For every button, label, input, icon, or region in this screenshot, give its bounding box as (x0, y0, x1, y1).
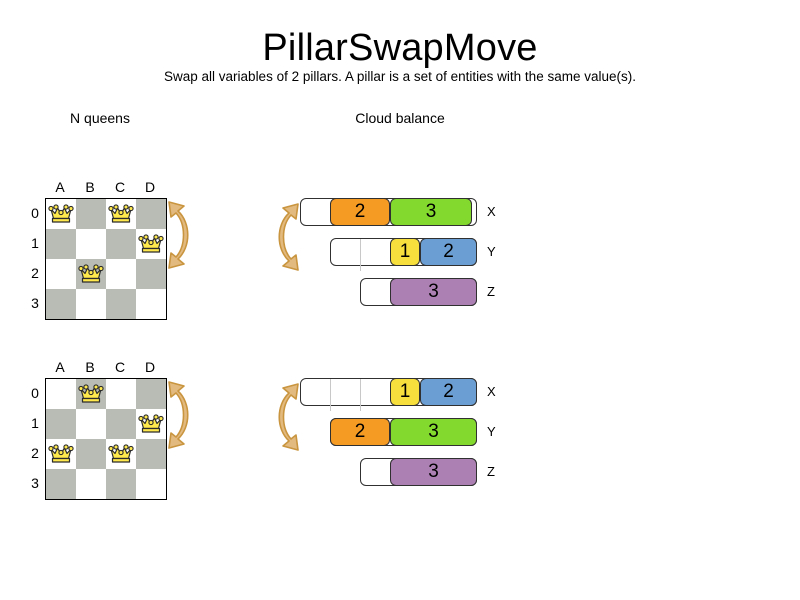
board-column-label-c: C (105, 358, 135, 376)
nqueens-board-after: ABCD 0123 (28, 358, 183, 500)
section-heading-cloud: Cloud balance (330, 110, 470, 126)
board-cell-D0[interactable] (136, 379, 166, 409)
board-cell-C2[interactable] (106, 259, 136, 289)
queen-crown-icon (48, 443, 74, 465)
computer-label-y: Y (487, 238, 511, 266)
cloud-row-z: 3Z (295, 275, 505, 315)
board-column-labels: ABCD (45, 178, 165, 198)
board-cell-B1[interactable] (76, 409, 106, 439)
board-column-label-b: B (75, 358, 105, 376)
board-cell-B1[interactable] (76, 229, 106, 259)
process-block[interactable]: 1 (390, 378, 420, 406)
board-column-labels: ABCD (45, 358, 165, 378)
board-row-label-2: 2 (28, 438, 42, 468)
queen-crown-icon (108, 443, 134, 465)
board-cell-C1[interactable] (106, 229, 136, 259)
board-row-label-2: 2 (28, 258, 42, 288)
section-heading-nqueens: N queens (40, 110, 160, 126)
queen-piece[interactable] (78, 383, 104, 405)
board-cell-A1[interactable] (46, 409, 76, 439)
board-cell-A3[interactable] (46, 289, 76, 319)
process-block[interactable]: 2 (420, 378, 477, 406)
capacity-divider (330, 379, 331, 411)
board-cell-D3[interactable] (136, 469, 166, 499)
board-cell-A2[interactable] (46, 259, 76, 289)
queen-piece[interactable] (48, 443, 74, 465)
board-column-label-a: A (45, 178, 75, 196)
cloud-balance-after: 12X23Y3Z (295, 375, 505, 495)
computer-label-z: Z (487, 458, 511, 486)
board-cell-D3[interactable] (136, 289, 166, 319)
cloud-row-x: 12X (295, 375, 505, 415)
page-title: PillarSwapMove (0, 26, 800, 70)
computer-label-y: Y (487, 418, 511, 446)
board-cell-B2[interactable] (76, 439, 106, 469)
double-headed-curved-swap-arrow-icon (165, 376, 199, 454)
board-column-label-c: C (105, 178, 135, 196)
process-block[interactable]: 3 (390, 198, 472, 226)
queen-piece[interactable] (138, 233, 164, 255)
board-cell-B3[interactable] (76, 469, 106, 499)
board-row-labels: 0123 (28, 378, 43, 498)
queen-crown-icon (108, 203, 134, 225)
swap-arrow-icon (165, 376, 199, 459)
queen-crown-icon (78, 383, 104, 405)
board-cell-C0[interactable] (106, 379, 136, 409)
computer-label-z: Z (487, 278, 511, 306)
page-subtitle: Swap all variables of 2 pillars. A pilla… (0, 68, 800, 86)
board-cell-A0[interactable] (46, 379, 76, 409)
board-row-label-3: 3 (28, 288, 42, 318)
queen-crown-icon (138, 413, 164, 435)
process-block[interactable]: 2 (330, 418, 390, 446)
board-cell-A3[interactable] (46, 469, 76, 499)
board-column-label-a: A (45, 358, 75, 376)
capacity-divider (360, 239, 361, 271)
process-block[interactable]: 3 (390, 418, 477, 446)
board-cell-C3[interactable] (106, 289, 136, 319)
cloud-row-y: 23Y (295, 415, 505, 455)
process-block[interactable]: 2 (330, 198, 390, 226)
board-row-label-1: 1 (28, 408, 42, 438)
queen-crown-icon (138, 233, 164, 255)
queen-piece[interactable] (108, 203, 134, 225)
queen-piece[interactable] (108, 443, 134, 465)
board-row-label-1: 1 (28, 228, 42, 258)
board-row-label-0: 0 (28, 378, 42, 408)
board-grid (45, 198, 167, 320)
process-block[interactable]: 3 (390, 278, 477, 306)
process-block[interactable]: 2 (420, 238, 477, 266)
capacity-divider (360, 379, 361, 411)
board-row-label-0: 0 (28, 198, 42, 228)
queen-piece[interactable] (48, 203, 74, 225)
process-block[interactable]: 3 (390, 458, 477, 486)
board-grid (45, 378, 167, 500)
cloud-row-z: 3Z (295, 455, 505, 495)
board-row-labels: 0123 (28, 198, 43, 318)
board-cell-D0[interactable] (136, 199, 166, 229)
cloud-row-x: 23X (295, 195, 505, 235)
board-cell-A1[interactable] (46, 229, 76, 259)
nqueens-board-before: ABCD 0123 (28, 178, 183, 320)
swap-arrow-icon (165, 196, 199, 279)
board-column-label-b: B (75, 178, 105, 196)
queen-piece[interactable] (78, 263, 104, 285)
queen-crown-icon (78, 263, 104, 285)
cloud-balance-before: 23X12Y3Z (295, 195, 505, 315)
board-cell-C3[interactable] (106, 469, 136, 499)
computer-label-x: X (487, 378, 511, 406)
board-cell-D2[interactable] (136, 259, 166, 289)
board-wrap: ABCD 0123 (28, 178, 183, 320)
board-row-label-3: 3 (28, 468, 42, 498)
computer-label-x: X (487, 198, 511, 226)
board-cell-D2[interactable] (136, 439, 166, 469)
queen-piece[interactable] (138, 413, 164, 435)
board-column-label-d: D (135, 178, 165, 196)
board-cell-B0[interactable] (76, 199, 106, 229)
board-wrap: ABCD 0123 (28, 358, 183, 500)
board-cell-C1[interactable] (106, 409, 136, 439)
board-column-label-d: D (135, 358, 165, 376)
queen-crown-icon (48, 203, 74, 225)
board-cell-B3[interactable] (76, 289, 106, 319)
cloud-row-y: 12Y (295, 235, 505, 275)
double-headed-curved-swap-arrow-icon (165, 196, 199, 274)
process-block[interactable]: 1 (390, 238, 420, 266)
